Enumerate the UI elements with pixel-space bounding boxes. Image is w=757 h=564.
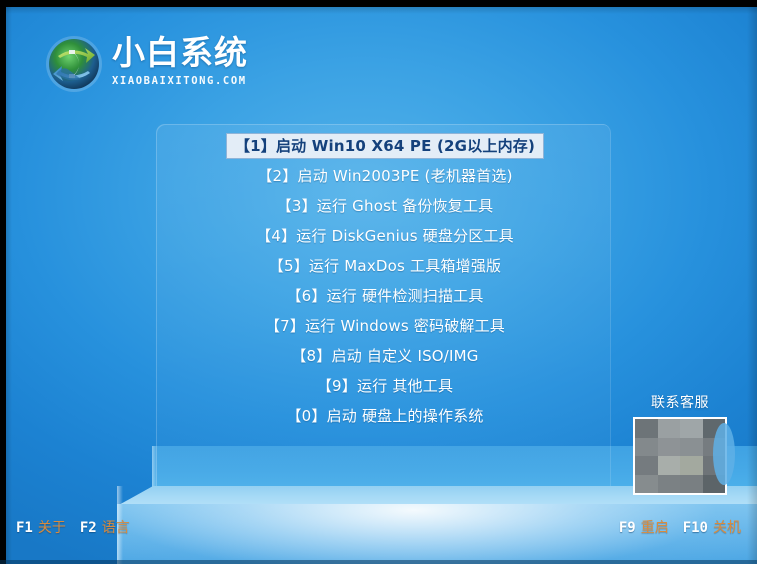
fkey-label: F1 bbox=[16, 520, 33, 536]
fkey-label: F2 bbox=[80, 520, 97, 536]
menu-item-label: 【9】运行 其他工具 bbox=[308, 373, 462, 399]
menu-item-4[interactable]: 【4】运行 DiskGenius 硬盘分区工具 bbox=[160, 224, 610, 247]
screen-frame-bottom bbox=[0, 560, 757, 564]
menu-item-label: 【8】启动 自定义 ISO/IMG bbox=[282, 343, 487, 369]
fkey-f9-restart[interactable]: F9 重启 bbox=[619, 517, 669, 537]
menu-item-7[interactable]: 【7】运行 Windows 密码破解工具 bbox=[160, 314, 610, 337]
menu-item-label: 【0】启动 硬盘上的操作系统 bbox=[277, 403, 492, 429]
menu-item-1[interactable]: 【1】启动 Win10 X64 PE (2G以上内存) bbox=[160, 134, 610, 157]
boot-menu-list: 【1】启动 Win10 X64 PE (2G以上内存) 【2】启动 Win200… bbox=[160, 134, 610, 434]
menu-item-2[interactable]: 【2】启动 Win2003PE (老机器首选) bbox=[160, 164, 610, 187]
screen-frame-top bbox=[0, 0, 757, 7]
fkey-action-label: 重启 bbox=[641, 517, 669, 537]
menu-item-0[interactable]: 【0】启动 硬盘上的操作系统 bbox=[160, 404, 610, 427]
menu-item-5[interactable]: 【5】运行 MaxDos 工具箱增强版 bbox=[160, 254, 610, 277]
fkey-f2-language[interactable]: F2 语言 bbox=[80, 517, 130, 537]
brand-logo: 小白系统 XIAOBAIXITONG.COM bbox=[44, 32, 284, 98]
fkey-f1-about[interactable]: F1 关于 bbox=[16, 517, 66, 537]
menu-item-label: 【3】运行 Ghost 备份恢复工具 bbox=[268, 193, 503, 219]
menu-item-label: 【5】运行 MaxDos 工具箱增强版 bbox=[260, 253, 510, 279]
menu-item-label: 【1】启动 Win10 X64 PE (2G以上内存) bbox=[226, 133, 544, 159]
menu-item-label: 【2】启动 Win2003PE (老机器首选) bbox=[248, 163, 521, 189]
brand-name-cn: 小白系统 bbox=[112, 32, 287, 74]
function-keys-right: F9 重启 F10 关机 bbox=[619, 517, 741, 537]
fkey-action-label: 关于 bbox=[38, 517, 66, 537]
fkey-f10-shutdown[interactable]: F10 关机 bbox=[683, 517, 741, 537]
recycle-arrows-logo-icon bbox=[44, 34, 104, 94]
brand-name-en: XIAOBAIXITONG.COM bbox=[112, 75, 287, 87]
qr-blurred-mosaic bbox=[635, 419, 725, 493]
menu-item-8[interactable]: 【8】启动 自定义 ISO/IMG bbox=[160, 344, 610, 367]
fkey-label: F10 bbox=[683, 520, 708, 536]
fkey-label: F9 bbox=[619, 520, 636, 536]
menu-item-9[interactable]: 【9】运行 其他工具 bbox=[160, 374, 610, 397]
menu-item-label: 【6】运行 硬件检测扫描工具 bbox=[277, 283, 492, 309]
qr-decoration-blob bbox=[713, 423, 735, 485]
qr-code-icon[interactable] bbox=[633, 417, 727, 495]
fkey-action-label: 语言 bbox=[102, 517, 130, 537]
contact-support-title: 联系客服 bbox=[628, 392, 732, 412]
menu-item-label: 【4】运行 DiskGenius 硬盘分区工具 bbox=[247, 223, 523, 249]
menu-item-3[interactable]: 【3】运行 Ghost 备份恢复工具 bbox=[160, 194, 610, 217]
brand-wordmark: 小白系统 XIAOBAIXITONG.COM bbox=[112, 32, 287, 87]
boot-menu-screen: 小白系统 XIAOBAIXITONG.COM 【1】启动 Win10 X64 P… bbox=[0, 0, 757, 564]
screen-frame-left bbox=[0, 0, 6, 564]
contact-support-widget: 联系客服 bbox=[628, 392, 732, 495]
menu-item-label: 【7】运行 Windows 密码破解工具 bbox=[256, 313, 514, 339]
fkey-action-label: 关机 bbox=[713, 517, 741, 537]
function-keys-left: F1 关于 F2 语言 bbox=[16, 517, 138, 537]
menu-item-6[interactable]: 【6】运行 硬件检测扫描工具 bbox=[160, 284, 610, 307]
